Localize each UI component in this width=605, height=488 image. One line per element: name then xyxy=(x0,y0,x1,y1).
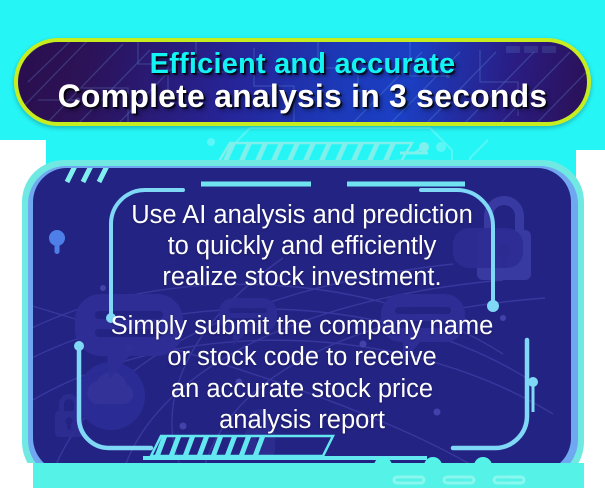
paragraph-one-line-1: Use AI analysis and prediction xyxy=(131,201,473,229)
bottom-strip-notch-left xyxy=(0,463,33,488)
paragraph-one: Use AI analysis and prediction to quickl… xyxy=(33,200,571,293)
paragraph-two-line-2: or stock code to receive xyxy=(167,343,436,371)
panel-copy: Use AI analysis and prediction to quickl… xyxy=(33,178,571,436)
bottom-dot-3 xyxy=(474,457,492,475)
bottom-strip-notch-right xyxy=(584,463,605,488)
banner-title-line-2: Complete analysis in 3 seconds xyxy=(58,80,548,114)
paragraph-two: Simply submit the company name or stock … xyxy=(33,311,571,435)
headline-banner: Efficient and accurate Complete analysis… xyxy=(14,38,591,126)
paragraph-two-line-1: Simply submit the company name xyxy=(111,312,494,340)
bottom-dot-2 xyxy=(424,457,442,475)
promo-graphic: Efficient and accurate Complete analysis… xyxy=(0,0,605,488)
paragraph-two-line-3: an accurate stock price xyxy=(171,375,433,403)
paragraph-one-line-3: realize stock investment. xyxy=(162,263,441,291)
backdrop-notch-right xyxy=(576,150,605,178)
banner-text-block: Efficient and accurate Complete analysis… xyxy=(18,42,587,122)
paragraph-two-line-4: analysis report xyxy=(219,406,385,434)
banner-title-line-1: Efficient and accurate xyxy=(150,50,456,80)
paragraph-one-line-2: to quickly and efficiently xyxy=(168,232,437,260)
bottom-dot-1 xyxy=(374,457,392,475)
bottom-strip-decorations xyxy=(0,455,605,488)
